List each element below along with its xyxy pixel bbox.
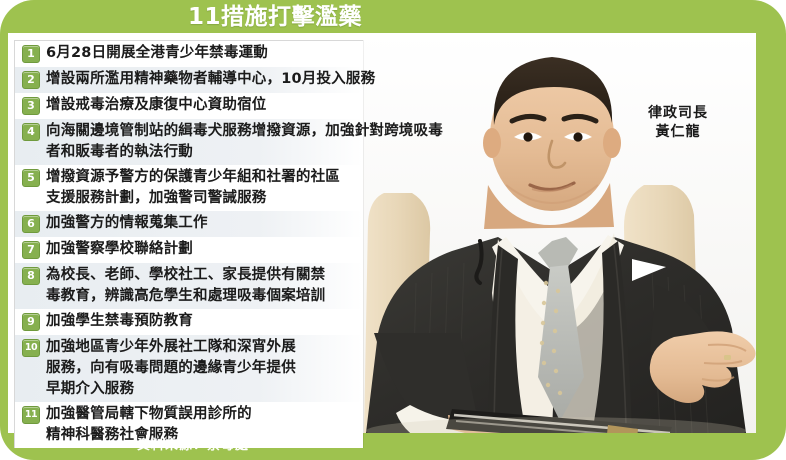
measure-row: 8為校長、老師、學校社工、家長提供有關禁毒教育，辨識高危學生和處理吸毒個案培訓	[15, 263, 363, 309]
measure-number-badge: 3	[22, 97, 40, 115]
measure-number-badge: 2	[22, 71, 40, 89]
measure-row: 5增撥資源予警方的保護青少年組和社署的社區支援服務計劃，加強警司警誡服務	[15, 165, 363, 211]
measure-text-line: 6月28日開展全港青少年禁毒運動	[46, 43, 361, 64]
measure-text-line: 增撥資源予警方的保護青少年組和社署的社區	[46, 167, 361, 188]
measure-row: 7加強警察學校聯絡計劃	[15, 237, 363, 263]
infographic-root: 11措施打擊濫藥	[0, 0, 786, 460]
measure-text-line: 服務，向有吸毒問題的邊緣青少年提供	[46, 358, 361, 379]
measure-text-line: 早期介入服務	[46, 379, 361, 400]
source-bar: 資料來源：禁毒處	[0, 433, 786, 460]
measure-number-badge: 8	[22, 267, 40, 285]
measure-row: 2增設兩所濫用精神藥物者輔導中心，10月投入服務	[15, 67, 363, 93]
measure-number-badge: 10	[22, 339, 40, 357]
measure-text-line: 加強警察學校聯絡計劃	[46, 239, 361, 260]
measure-row: 10加強地區青少年外展社工隊和深宵外展服務，向有吸毒問題的邊緣青少年提供早期介入…	[15, 335, 363, 402]
measure-number-badge: 4	[22, 123, 40, 141]
measure-text-line: 毒教育，辨識高危學生和處理吸毒個案培訓	[46, 286, 361, 307]
photo-of-official	[356, 33, 756, 433]
person-title: 律政司長	[648, 104, 708, 123]
measure-text-line: 加強警方的情報蒐集工作	[46, 213, 361, 234]
measure-text-line: 支援服務計劃，加強警司警誡服務	[46, 188, 361, 209]
measure-text: 加強警察學校聯絡計劃	[46, 239, 363, 260]
measure-number-badge: 1	[22, 45, 40, 63]
measure-number-badge: 9	[22, 313, 40, 331]
measure-text-line: 向海關邊境管制站的緝毒犬服務增撥資源，加強針對跨境吸毒	[46, 121, 443, 142]
measure-text-line: 加強地區青少年外展社工隊和深宵外展	[46, 337, 361, 358]
measure-text-line: 加強醫管局轄下物質誤用診所的	[46, 404, 361, 425]
title-banner: 11措施打擊濫藥	[0, 0, 786, 33]
measure-text: 向海關邊境管制站的緝毒犬服務增撥資源，加強針對跨境吸毒者和販毒者的執法行動	[46, 121, 445, 163]
measures-list: 16月28日開展全港青少年禁毒運動2增設兩所濫用精神藥物者輔導中心，10月投入服…	[14, 40, 363, 448]
measure-row: 6加強警方的情報蒐集工作	[15, 211, 363, 237]
measure-row: 9加強學生禁毒預防教育	[15, 309, 363, 335]
measure-text-line: 增設戒毒治療及康復中心資助宿位	[46, 95, 361, 116]
measure-text: 加強警方的情報蒐集工作	[46, 213, 363, 234]
measure-text-line: 者和販毒者的執法行動	[46, 142, 443, 163]
measure-number-badge: 5	[22, 169, 40, 187]
measure-text-line: 為校長、老師、學校社工、家長提供有關禁	[46, 265, 361, 286]
measure-text: 為校長、老師、學校社工、家長提供有關禁毒教育，辨識高危學生和處理吸毒個案培訓	[46, 265, 363, 307]
measure-text-line: 增設兩所濫用精神藥物者輔導中心，10月投入服務	[46, 69, 375, 90]
measure-text: 加強學生禁毒預防教育	[46, 311, 363, 332]
measure-text: 加強地區青少年外展社工隊和深宵外展服務，向有吸毒問題的邊緣青少年提供早期介入服務	[46, 337, 363, 400]
measure-row: 4向海關邊境管制站的緝毒犬服務增撥資源，加強針對跨境吸毒者和販毒者的執法行動	[15, 119, 363, 165]
measure-row: 3增設戒毒治療及康復中心資助宿位	[15, 93, 363, 119]
measure-text: 增撥資源予警方的保護青少年組和社署的社區支援服務計劃，加強警司警誡服務	[46, 167, 363, 209]
measure-text: 增設兩所濫用精神藥物者輔導中心，10月投入服務	[46, 69, 377, 90]
measure-row: 16月28日開展全港青少年禁毒運動	[15, 41, 363, 67]
measure-text: 增設戒毒治療及康復中心資助宿位	[46, 95, 363, 116]
source-text: 資料來源：禁毒處	[137, 436, 249, 456]
measure-number-badge: 7	[22, 241, 40, 259]
measure-number-badge: 11	[22, 406, 40, 424]
measure-text-line: 加強學生禁毒預防教育	[46, 311, 361, 332]
measure-text: 6月28日開展全港青少年禁毒運動	[46, 43, 363, 64]
person-name: 黃仁龍	[648, 123, 708, 142]
photo-illustration	[356, 33, 756, 433]
measure-number-badge: 6	[22, 215, 40, 233]
person-name-label: 律政司長 黃仁龍	[648, 104, 708, 142]
page-title: 11措施打擊濫藥	[188, 2, 362, 32]
